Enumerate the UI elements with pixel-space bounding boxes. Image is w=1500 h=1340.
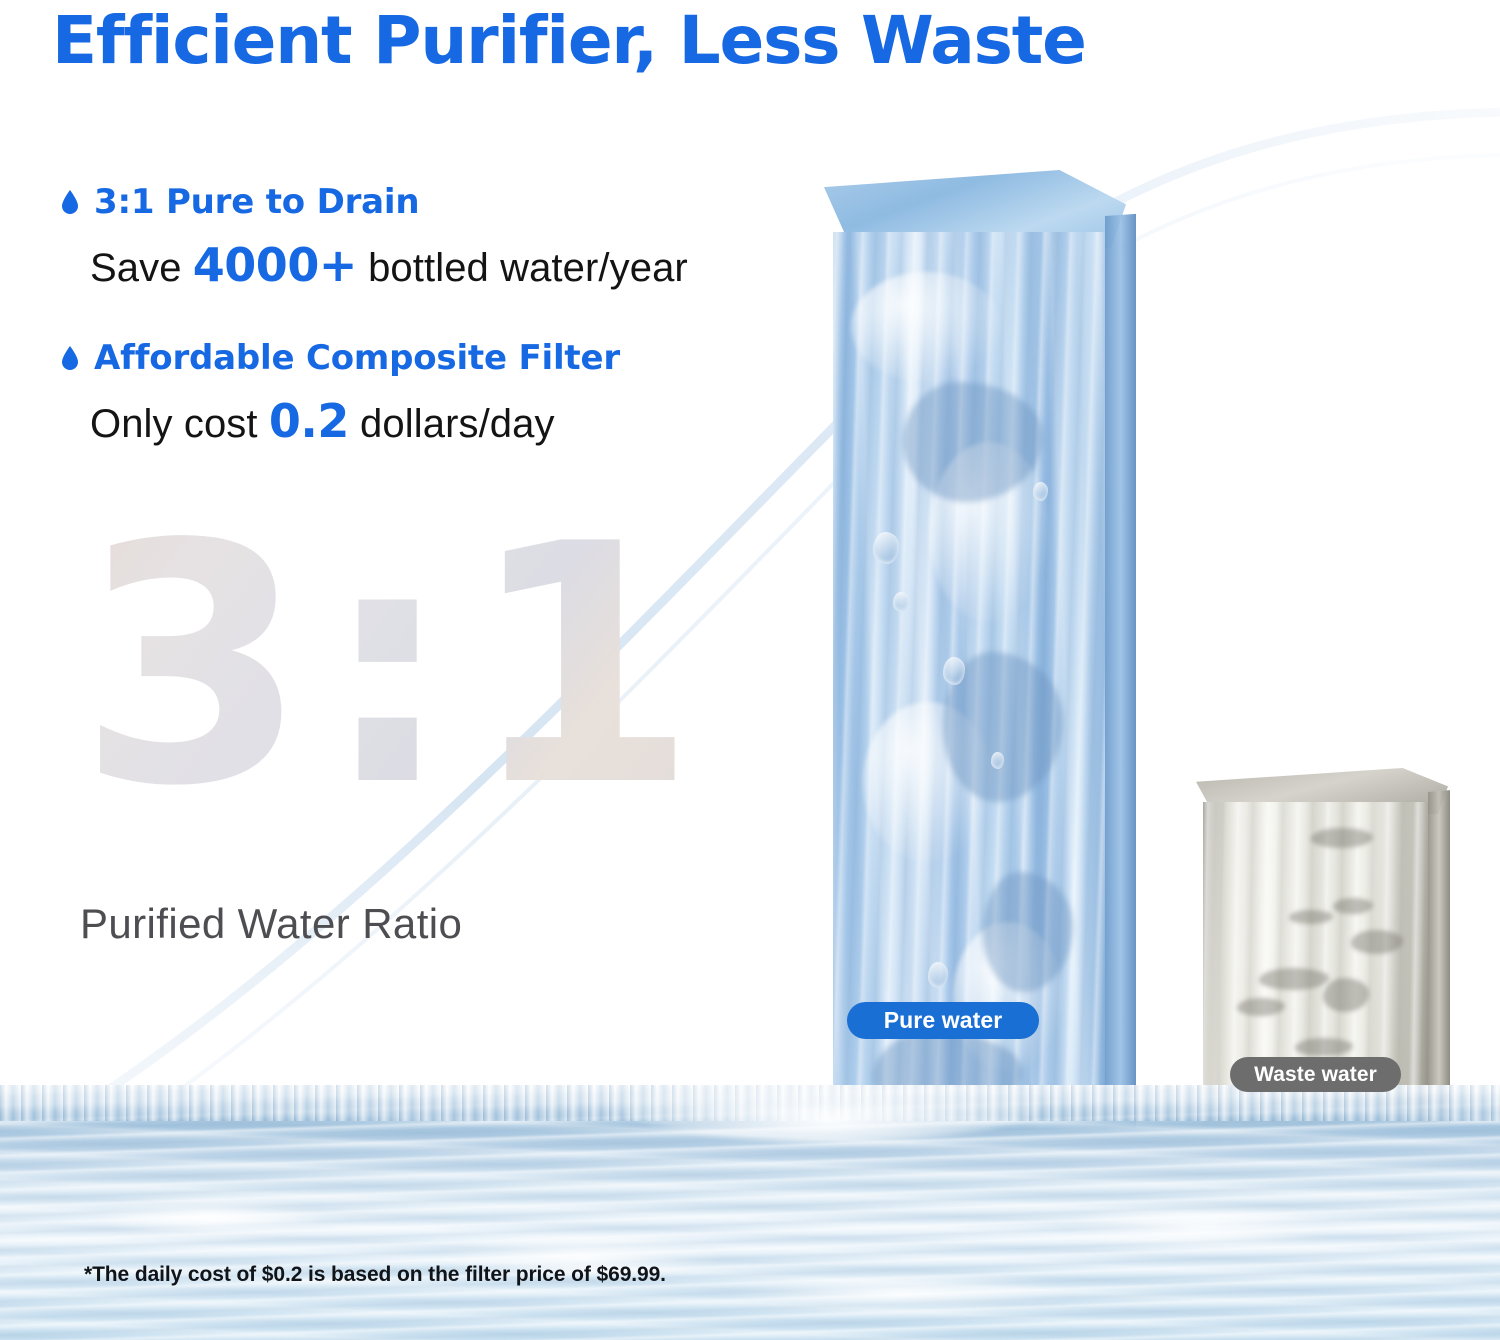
feature-sub-suffix: bottled water/year [357,246,688,290]
feature-item-ratio: 3:1 Pure to Drain Save 4000+ bottled wat… [60,182,820,292]
watermark-numerator: 3 [78,528,306,805]
footnote-disclaimer: *The daily cost of $0.2 is based on the … [84,1263,666,1287]
feature-item-filter: Affordable Composite Filter Only cost 0.… [60,338,820,448]
pure-block-front-face [833,232,1105,1130]
water-drop-icon [60,345,80,371]
pure-block-side-face [1105,214,1136,1130]
waste-block-side-face [1428,790,1450,1126]
water-surface [0,1085,1500,1340]
feature-sub-prefix: Save [90,246,193,290]
feature-list: 3:1 Pure to Drain Save 4000+ bottled wat… [60,182,820,494]
feature-title-row: Affordable Composite Filter [60,338,820,378]
pure-water-block [824,170,1126,1130]
water-drop-icon [60,189,80,215]
status-badge-pure-water: Pure water [847,1002,1039,1039]
feature-title: 3:1 Pure to Drain [94,182,419,222]
feature-subtitle: Save 4000+ bottled water/year [90,238,820,292]
page-title: Efficient Purifier, Less Waste [52,2,1086,79]
feature-sub-prefix: Only cost [90,402,269,446]
feature-subtitle: Only cost 0.2 dollars/day [90,394,820,448]
feature-sub-highlight: 4000+ [193,238,357,292]
product-infographic: 3 : 1 Purified Water Ratio Efficient Pur… [0,0,1500,1340]
feature-sub-highlight: 0.2 [269,394,349,448]
feature-title-row: 3:1 Pure to Drain [60,182,820,222]
status-badge-waste-water: Waste water [1230,1057,1401,1092]
ratio-watermark: 3 : 1 [78,528,695,805]
ratio-label: Purified Water Ratio [80,900,462,948]
feature-title: Affordable Composite Filter [94,338,620,378]
watermark-colon: : [306,528,468,805]
watermark-denominator: 1 [468,528,696,805]
feature-sub-suffix: dollars/day [349,402,555,446]
